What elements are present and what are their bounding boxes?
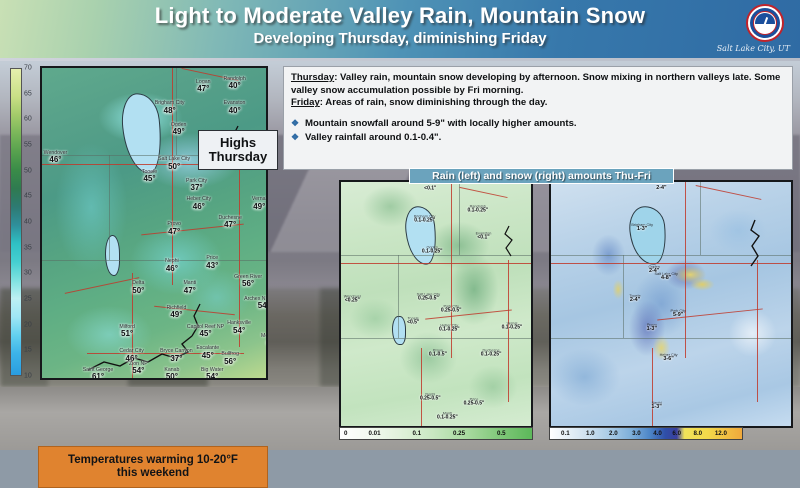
city-temperature-label: Nephi46° [165, 259, 179, 273]
city-temperature-label: Monticello41° [261, 334, 268, 348]
amount-label: Wendover<0.25" [344, 294, 361, 303]
amount-label: Tooele2-4" [629, 294, 640, 304]
city-temp-value: 49° [171, 129, 187, 137]
colorbar-tick: 50 [24, 167, 32, 174]
rain-map: <0.1"Randolph0.1-0.25"Brigham City0.1-0.… [339, 180, 533, 428]
city-temperature-label: Heber City46° [187, 197, 212, 211]
rain-snow-banner: Rain (left) and snow (right) amounts Thu… [409, 168, 674, 184]
city-temp-value: 47° [183, 287, 196, 295]
colorbar-tick: 6.0 [672, 430, 681, 437]
city-temperature-label: Tooele45° [142, 170, 157, 184]
colorbar-tick: 30 [24, 270, 32, 277]
amount-label: Heber City3-6" [660, 353, 678, 363]
amount-label: 2-4" [656, 186, 666, 192]
city-temperature-label: Manti47° [183, 281, 196, 295]
colorbar-tick: 45 [24, 193, 32, 200]
amount-value: 0.1-0.25" [502, 325, 523, 330]
city-temp-value: 56° [221, 358, 239, 366]
city-temperature-label: Saint George61° [83, 368, 114, 380]
city-temp-value: 50° [164, 373, 179, 380]
colorbar-tick: 12.0 [715, 430, 727, 437]
city-temperature-label: Price43° [206, 256, 218, 270]
highways [551, 182, 791, 426]
discussion-paragraph: Thursday: Valley rain, mountain snow dev… [291, 72, 785, 110]
snow-colorbar: 0.11.02.03.04.06.08.012.0 [549, 427, 743, 440]
nws-logo-icon [746, 4, 784, 42]
amount-label: Provo0.1-0.5" [429, 348, 447, 357]
city-temp-value: 54° [201, 373, 224, 380]
discussion-textbox: Thursday: Valley rain, mountain snow dev… [283, 66, 793, 170]
amount-value: 0.25-0.5" [464, 401, 485, 406]
city-temperature-label: Richfield49° [166, 306, 186, 320]
discussion-bullets: Mountain snowfall around 5-9" with local… [291, 117, 785, 146]
city-temperature-label: Milford51° [119, 325, 135, 339]
city-temp-value: 56° [234, 280, 262, 288]
city-temp-value: 41° [261, 339, 268, 347]
city-temp-value: 50° [132, 287, 144, 295]
amount-label: Salt Lake City4-8" [654, 272, 677, 282]
city-temp-value: 47° [196, 85, 210, 93]
amount-value: 0.1-0.5" [429, 352, 447, 357]
thursday-label: Thursday [291, 72, 334, 83]
city-temp-value: 54° [129, 367, 148, 375]
header-divider [0, 58, 800, 61]
city-temperature-label: Randolph40° [224, 77, 246, 91]
city-temperature-label: Capitol Reef NP45° [187, 325, 224, 339]
city-temperature-label: Logan47° [196, 80, 210, 94]
colorbar-tick: 2.0 [609, 430, 618, 437]
city-temp-value: 46° [165, 265, 179, 273]
colorbar-tick: 4.0 [653, 430, 662, 437]
city-temperature-label: Hanksville54° [227, 321, 251, 335]
amount-value: 0.1-0.25" [481, 352, 502, 357]
colorbar-tick: 3.0 [632, 430, 641, 437]
amount-value: 2-4" [629, 298, 640, 304]
amount-value: 4-8" [654, 276, 677, 282]
city-temp-value: 54° [227, 327, 251, 335]
bullet-item: Mountain snowfall around 5-9" with local… [291, 117, 785, 131]
city-temperature-label: Zion NP54° [129, 362, 148, 376]
colorbar-tick: 0.1 [561, 430, 570, 437]
snow-map: 2-4"Brigham City1-3"Ogden2-4"Salt Lake C… [549, 180, 793, 428]
city-temperature-label: Arches NP/Moab54° [244, 297, 268, 311]
city-temperature-label: Park City37° [186, 179, 207, 193]
colorbar-tick: 15 [24, 347, 32, 354]
colorbar-tick: 8.0 [694, 430, 703, 437]
city-temp-value: 45° [142, 175, 157, 183]
temperature-colorbar: 10152025303540455055606570 Temperature (… [6, 66, 36, 380]
temperature-map-panel: 10152025303540455055606570 Temperature (… [2, 64, 270, 384]
highs-line1: Highs [220, 136, 256, 150]
city-temperature-label: Green River56° [234, 275, 262, 289]
weather-briefing-graphic: Light to Moderate Valley Rain, Mountain … [0, 0, 800, 450]
colorbar-tick: 20 [24, 321, 32, 328]
colorbar-tick: 40 [24, 219, 32, 226]
city-temp-value: 40° [224, 82, 246, 90]
city-temp-value: 37° [160, 355, 193, 363]
city-temperature-label: Vernal49° [252, 197, 267, 211]
city-temperature-label: Escalante45° [196, 346, 219, 360]
amount-label: <0.1" [424, 187, 436, 192]
city-temp-value: 47° [167, 228, 181, 236]
amount-label: Evanston<0.1" [476, 231, 492, 240]
city-temp-value: 54° [244, 302, 268, 310]
warming-line1: Temperatures warming 10-20°F [68, 454, 238, 467]
amount-value: 0.1-0.25" [422, 250, 443, 255]
colorbar-tick: 60 [24, 116, 32, 123]
amount-value: 1-3" [631, 228, 653, 234]
city-temp-value: 61° [83, 373, 114, 380]
city-temp-value: 46° [44, 156, 68, 164]
amount-label: Tooele<0.5" [407, 316, 419, 325]
city-temp-value: 50° [158, 163, 190, 171]
amount-label: Nephi0.25-0.5" [420, 392, 441, 401]
colorbar-tick: 25 [24, 296, 32, 303]
colorbar-tick: 0.01 [369, 430, 381, 437]
colorbar-tick: 35 [24, 244, 32, 251]
rain-map-panel: <0.1"Randolph0.1-0.25"Brigham City0.1-0.… [336, 180, 536, 446]
amount-label: Brigham City0.1-0.25" [414, 214, 436, 223]
city-temperature-label: Kanab50° [164, 368, 179, 380]
amount-label: Ogden0.1-0.25" [422, 246, 443, 255]
temperature-colorbar-gradient [10, 68, 22, 376]
city-temp-value: 47° [218, 222, 241, 230]
city-temp-value: 48° [155, 107, 185, 115]
amount-label: Heber City0.1-0.25" [439, 324, 460, 333]
amount-label: Manti0.1-0.25" [437, 412, 458, 421]
amount-value: 0.25-0.5" [417, 296, 440, 301]
amount-value: 1-3" [651, 406, 661, 412]
amount-label: Provo1-3" [647, 324, 657, 334]
logo-caption: Salt Lake City, UT [717, 44, 790, 53]
city-temperature-label: Brigham City48° [155, 101, 185, 115]
colorbar-tick: 0.25 [453, 430, 465, 437]
rain-colorbar: 00.010.10.250.5 [339, 427, 533, 440]
city-temp-value: 46° [187, 203, 212, 211]
amount-value: 1-3" [647, 328, 657, 334]
city-temperature-label: Wendover46° [44, 151, 68, 165]
header-banner: Light to Moderate Valley Rain, Mountain … [0, 0, 800, 58]
city-temp-value: 49° [252, 203, 267, 211]
amount-value: <0.5" [407, 320, 419, 325]
colorbar-tick: 0.1 [412, 430, 421, 437]
amount-label: Nephi1-3" [651, 402, 661, 412]
amount-value: 0.25-0.5" [441, 308, 462, 313]
amount-label: Park City0.25-0.5" [441, 304, 462, 313]
friday-text: : Areas of rain, snow diminishing throug… [320, 97, 548, 108]
city-temp-value: 43° [206, 262, 218, 270]
colorbar-tick: 0 [344, 430, 347, 437]
amount-value: 0.1-0.25" [437, 416, 458, 421]
city-temp-value: 40° [224, 107, 246, 115]
city-temperature-label: Ogden49° [171, 123, 187, 137]
amount-value: 5-9" [670, 313, 685, 319]
amount-value: 0.25-0.5" [420, 396, 441, 401]
bullet-item: Valley rainfall around 0.1-0.4". [291, 131, 785, 145]
amount-value: 0.1-0.25" [467, 208, 488, 213]
page-subtitle: Developing Thursday, diminishing Friday [0, 30, 800, 47]
colorbar-tick: 0.5 [497, 430, 506, 437]
page-title: Light to Moderate Valley Rain, Mountain … [0, 3, 800, 29]
warming-banner: Temperatures warming 10-20°F this weeken… [38, 446, 268, 488]
city-temperature-label: Bullfrog56° [221, 352, 239, 366]
amount-value: 0.1-0.25" [439, 328, 460, 333]
amount-value: 3-6" [660, 357, 678, 363]
city-temp-value: 45° [187, 330, 224, 338]
thursday-text: : Valley rain, mountain snow developing … [291, 72, 780, 96]
amount-value: 2-4" [656, 186, 666, 192]
amount-label: Brigham City1-3" [631, 224, 653, 234]
colorbar-tick: 1.0 [586, 430, 595, 437]
amount-value: <0.1" [476, 235, 492, 240]
amount-label: Vernal0.1-0.25" [502, 321, 523, 330]
city-temperature-label: Delta50° [132, 281, 144, 295]
friday-label: Friday [291, 97, 320, 108]
colorbar-tick: 65 [24, 90, 32, 97]
amount-label: Duchesne0.1-0.25" [481, 348, 502, 357]
colorbar-tick: 10 [24, 373, 32, 380]
city-temp-value: 37° [186, 184, 207, 192]
amount-value: 0.1-0.25" [414, 218, 436, 223]
warming-line2: this weekend [117, 467, 189, 480]
city-temperature-label: Salt Lake City50° [158, 157, 190, 171]
city-temp-value: 45° [196, 352, 219, 360]
amount-label: Park City5-9" [670, 309, 685, 319]
highways [341, 182, 531, 426]
city-temperature-label: Big Water54° [201, 368, 224, 380]
city-temp-value: 49° [166, 311, 186, 319]
temperature-colorbar-ticks: 10152025303540455055606570 [24, 66, 38, 378]
city-name: Monticello [261, 334, 268, 339]
city-temperature-label: Bryce Canyon37° [160, 349, 193, 363]
colorbar-tick: 70 [24, 65, 32, 72]
highs-line2: Thursday [209, 150, 268, 164]
highs-thursday-label: Highs Thursday [198, 130, 278, 170]
amount-label: Randolph0.1-0.25" [467, 204, 488, 213]
city-temperature-label: Evanston40° [224, 101, 246, 115]
amount-label: Salt Lake City0.25-0.5" [417, 292, 440, 301]
city-temp-value: 51° [119, 330, 135, 338]
amount-value: <0.25" [344, 298, 361, 303]
temperature-map: Logan47°Brigham City48°Ogden49°Salt Lake… [40, 66, 268, 380]
amount-label: Price0.25-0.5" [464, 397, 485, 406]
amount-value: <0.1" [424, 187, 436, 192]
snow-map-panel: 2-4"Brigham City1-3"Ogden2-4"Salt Lake C… [546, 180, 796, 446]
city-temperature-label: Duchesne47° [218, 216, 241, 230]
colorbar-tick: 55 [24, 142, 32, 149]
city-temperature-label: Provo47° [167, 222, 181, 236]
